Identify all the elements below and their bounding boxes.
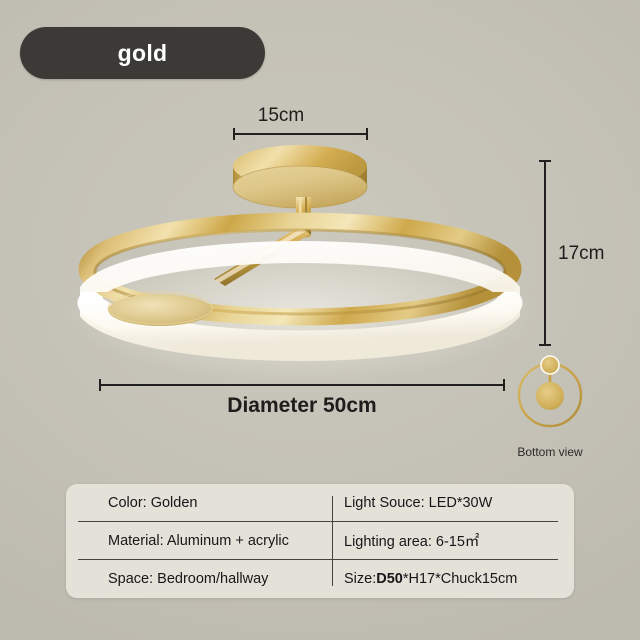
bottom-view-center-disc-icon <box>536 382 564 410</box>
height-dimension-line <box>544 160 546 346</box>
spec-color: Color: Golden <box>78 484 320 522</box>
spec-size: Size: D50*H17*Chuck15cm <box>320 560 574 598</box>
specification-grid: Color: Golden Light Souce: LED*30W Mater… <box>66 484 574 598</box>
canopy-width-label: 15cm <box>258 105 304 127</box>
spec-light-source: Light Souce: LED*30W <box>320 484 558 522</box>
canopy-width-dimension-line <box>233 133 368 135</box>
center-disc-icon <box>108 292 212 326</box>
spec-lighting-area: Lighting area: 6-15㎡ <box>320 522 558 560</box>
product-spec-image: gold <box>0 0 640 640</box>
spec-material: Material: Aluminum + acrylic <box>78 522 320 560</box>
spec-size-suffix: *H17*Chuck15cm <box>403 571 517 587</box>
spec-column-divider <box>332 496 333 586</box>
diameter-dimension-line <box>99 384 505 386</box>
bottom-view-diagram <box>506 352 598 438</box>
height-label: 17cm <box>558 243 604 265</box>
bottom-view-canopy-icon <box>541 356 559 374</box>
diameter-label: Diameter 50cm <box>227 394 376 418</box>
bottom-view-label: Bottom view <box>517 445 582 459</box>
spec-size-value: D50 <box>376 571 403 587</box>
specification-panel: Color: Golden Light Souce: LED*30W Mater… <box>66 484 574 598</box>
spec-size-prefix: Size: <box>344 571 376 587</box>
spec-space: Space: Bedroom/hallway <box>66 560 320 598</box>
